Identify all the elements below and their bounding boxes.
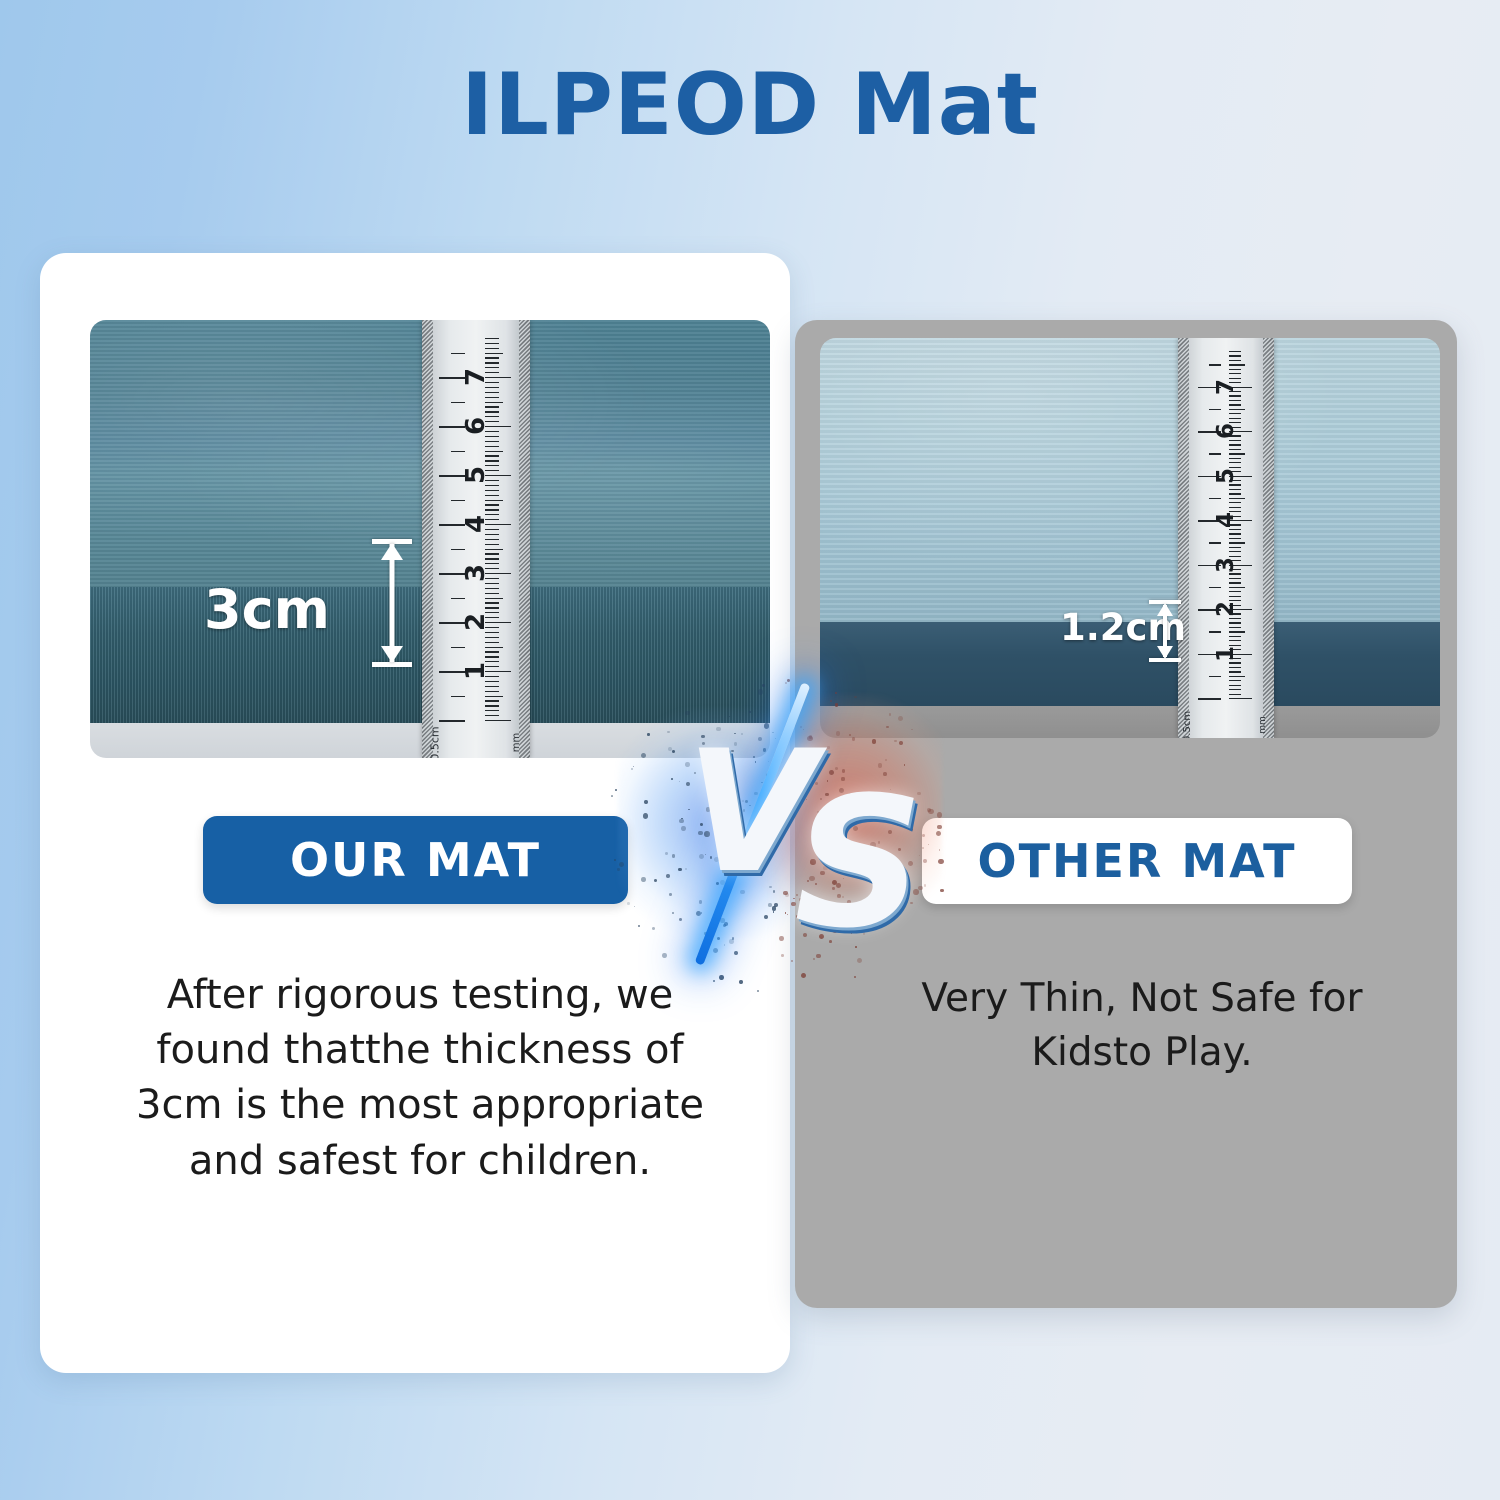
ruler-number: 7 xyxy=(461,368,491,386)
ruler-number: 2 xyxy=(461,613,491,631)
ruler-number: 4 xyxy=(1213,512,1239,528)
our-mat-photo: 1234567 0.5cm mm 3cm xyxy=(90,320,770,758)
arrow-shaft xyxy=(390,544,395,662)
arrow-head-down xyxy=(381,646,403,663)
ruler-number: 6 xyxy=(1213,423,1239,439)
ruler-knurl-right xyxy=(519,320,530,758)
ruler-number: 3 xyxy=(1213,556,1239,572)
our-mat-description: After rigorous testing, we found thatthe… xyxy=(120,968,720,1189)
vs-speck xyxy=(791,960,793,962)
ruler: 1234567 0.5cm mm xyxy=(422,320,530,758)
page-title: ILPEOD Mat xyxy=(0,62,1500,148)
ruler-mm-label: mm xyxy=(511,733,522,752)
ruler-numbers: 1234567 xyxy=(456,320,496,758)
mat-surface xyxy=(820,338,1440,622)
ruler-number: 7 xyxy=(1213,378,1239,394)
vs-speck xyxy=(791,770,793,772)
infographic-root: ILPEOD Mat 1234567 0.5cm mm 3cm xyxy=(0,0,1500,1500)
ruler-number: 5 xyxy=(461,466,491,484)
arrow-head-up xyxy=(381,543,403,560)
ruler-half-cm-label: 0.5cm xyxy=(429,726,442,758)
other-mat-photo: 1234567 0.5cm mm 1.2cm xyxy=(820,338,1440,738)
ruler: 1234567 0.5cm mm xyxy=(1178,338,1274,738)
our-measurement-label: 3cm xyxy=(204,578,330,641)
our-measurement-arrow xyxy=(386,539,398,667)
ruler-mm-label: mm xyxy=(1258,716,1268,734)
floor xyxy=(820,706,1440,738)
our-mat-badge[interactable]: OUR MAT xyxy=(203,816,628,904)
other-measurement-arrow xyxy=(1160,600,1170,662)
ruler-number: 1 xyxy=(461,662,491,680)
arrow-head-down xyxy=(1157,646,1173,659)
ruler-number: 4 xyxy=(461,515,491,533)
ruler-number: 6 xyxy=(461,417,491,435)
ruler-number: 1 xyxy=(1213,645,1239,661)
ruler-knurl-left xyxy=(1178,338,1189,738)
other-mat-description: Very Thin, Not Safe for Kidsto Play. xyxy=(900,972,1384,1080)
ruler-knurl-left xyxy=(422,320,433,758)
ruler-numbers: 1234567 xyxy=(1206,338,1246,738)
ruler-number: 2 xyxy=(1213,601,1239,617)
ruler-half-cm-label: 0.5cm xyxy=(1182,711,1193,738)
other-mat-badge[interactable]: OTHER MAT xyxy=(922,818,1352,904)
ruler-number: 3 xyxy=(461,564,491,582)
ruler-knurl-right xyxy=(1263,338,1274,738)
ruler-number: 5 xyxy=(1213,467,1239,483)
arrow-head-up xyxy=(1157,603,1173,616)
